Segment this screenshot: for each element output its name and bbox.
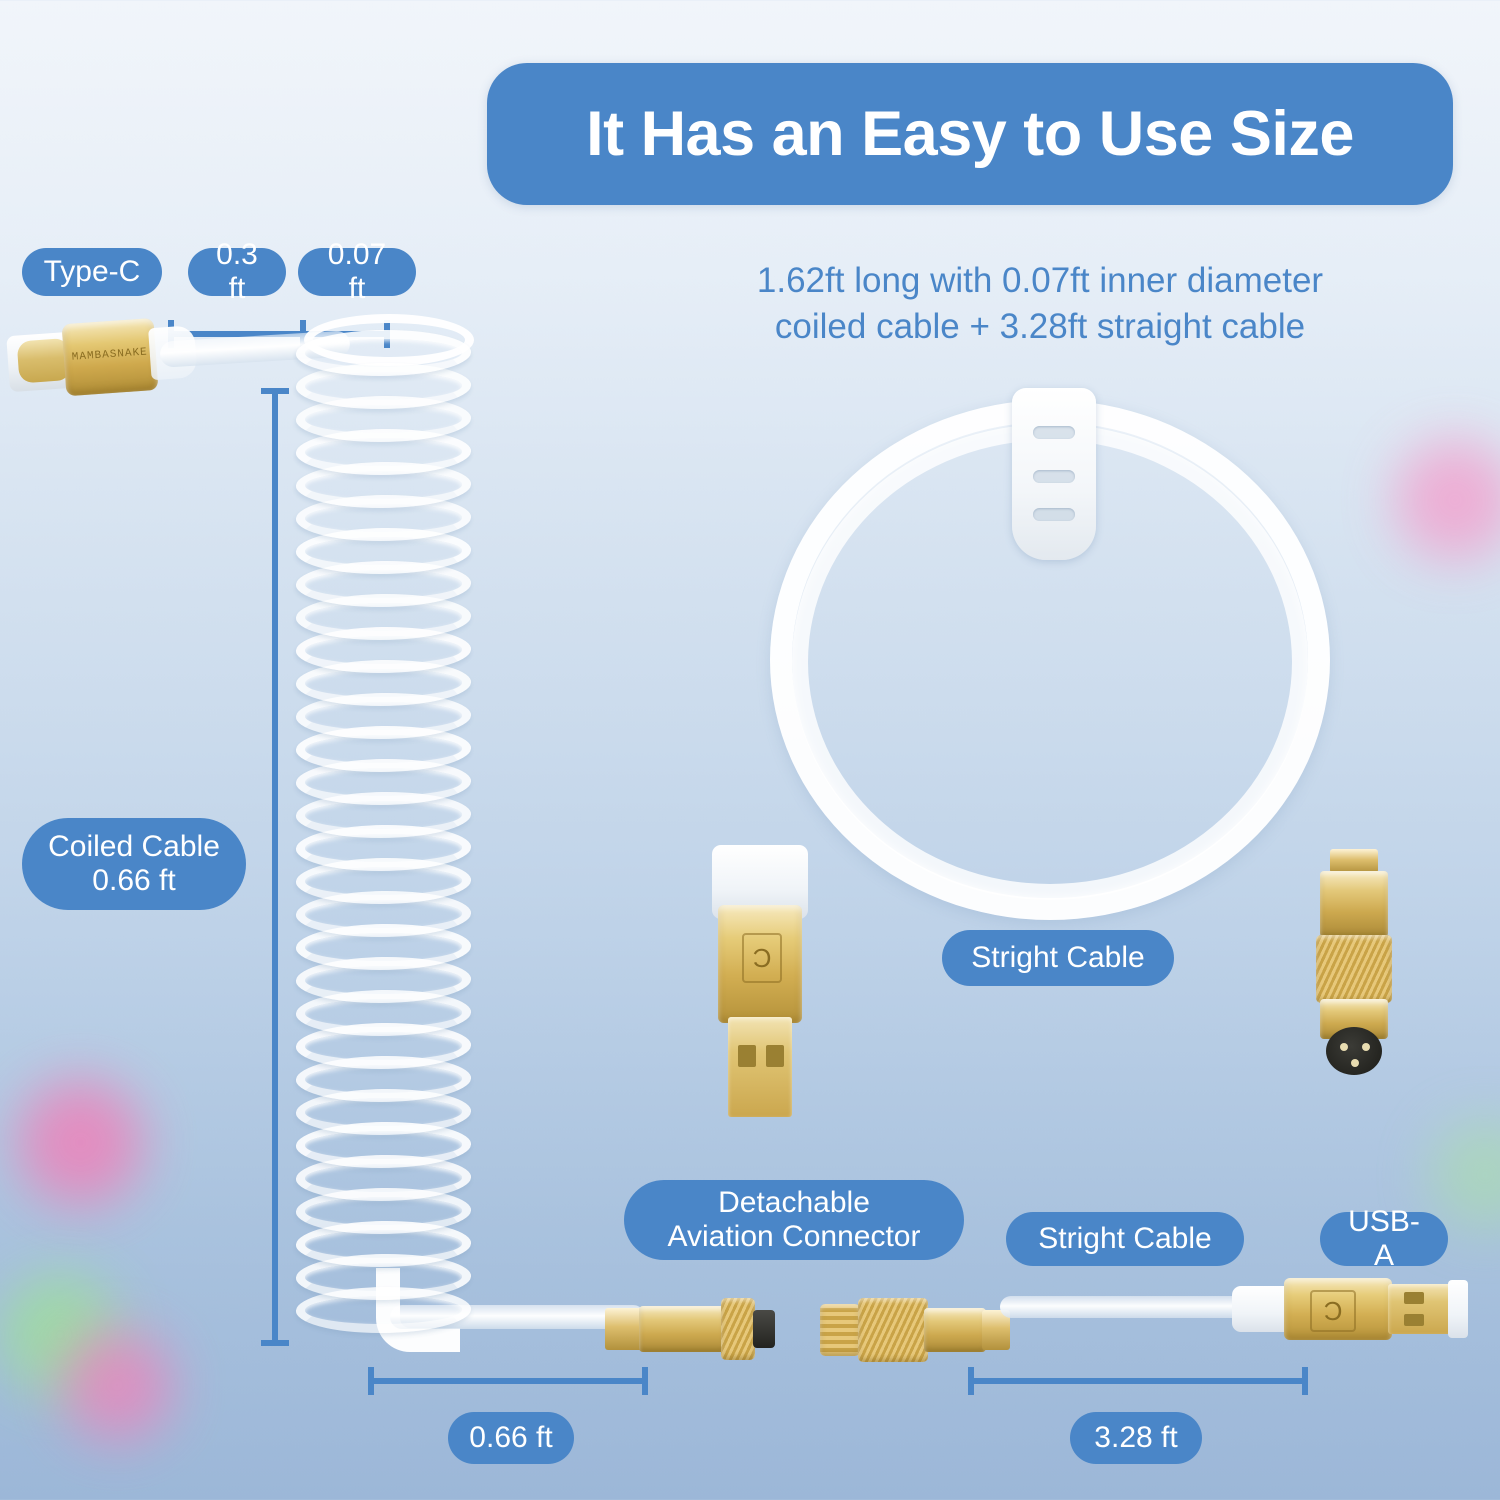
aviation-female-knurl xyxy=(858,1298,928,1362)
description-line-2: coiled cable + 3.28ft straight cable xyxy=(645,304,1435,350)
aviation-female-barrel xyxy=(924,1308,986,1352)
dimension-tick-coil-top xyxy=(261,388,289,394)
label-length-0-3ft: 0.3 ft xyxy=(188,248,286,296)
usb-a-connector-bottom: Ɔ xyxy=(1232,1268,1468,1354)
usb-a-pinhole-b1 xyxy=(1404,1292,1424,1304)
brand-logo-icon-bottom: Ɔ xyxy=(1310,1290,1356,1332)
label-straight-cable-upper: Stright Cable xyxy=(942,930,1174,986)
dimension-tick-coil-bottom xyxy=(261,1340,289,1346)
page-title-banner: It Has an Easy to Use Size xyxy=(487,63,1453,205)
label-detachable-aviation-connector: Detachable Aviation Connector xyxy=(624,1180,964,1260)
description-text: 1.62ft long with 0.07ft inner diameter c… xyxy=(645,258,1435,349)
label-length-0-07ft: 0.07 ft xyxy=(298,248,416,296)
coiled-cable xyxy=(296,330,486,1340)
label-straight-cable-lower: Stright Cable xyxy=(1006,1212,1244,1266)
aviation-connector-female xyxy=(820,1280,1010,1380)
aviation-pin-3 xyxy=(1351,1059,1359,1067)
dimension-tick-066-left xyxy=(368,1367,374,1395)
pink-dot-right-top xyxy=(1395,440,1500,560)
dimension-line-straight-length xyxy=(968,1378,1308,1384)
usb-a-pinhole-2 xyxy=(766,1045,784,1067)
aviation-connector-male xyxy=(605,1280,775,1380)
aviation-male-barrel xyxy=(639,1306,725,1352)
aviation-male-knurl xyxy=(721,1298,755,1360)
usb-a-plug-middle xyxy=(728,1017,792,1117)
lower-straight-cable xyxy=(1000,1296,1250,1318)
strap-slot-3 xyxy=(1033,508,1075,521)
strap-slot-1 xyxy=(1033,426,1075,439)
aviation-connector-right xyxy=(1300,845,1410,1085)
usb-a-pinhole-b2 xyxy=(1404,1314,1424,1326)
aviation-pin-1 xyxy=(1340,1043,1348,1051)
usb-a-pinhole-1 xyxy=(738,1045,756,1067)
green-dot-right xyxy=(1430,1120,1500,1230)
aviation-knurl-right xyxy=(1316,935,1392,1003)
dimension-line-coil-height xyxy=(272,388,278,1346)
label-type-c: Type-C xyxy=(22,248,162,296)
pink-dot-left xyxy=(18,1080,143,1205)
aviation-female-thread xyxy=(820,1304,860,1356)
green-dot-left xyxy=(0,1275,120,1395)
description-line-1: 1.62ft long with 0.07ft inner diameter xyxy=(645,258,1435,304)
label-length-0-66ft: 0.66 ft xyxy=(448,1412,574,1464)
cable-tie-strap xyxy=(1012,388,1096,560)
brand-logo-icon-middle: Ɔ xyxy=(742,933,782,983)
pink-dot-left-lower xyxy=(62,1330,172,1440)
product-infographic: It Has an Easy to Use Size 1.62ft long w… xyxy=(0,0,1500,1500)
label-length-3-28ft: 3.28 ft xyxy=(1070,1412,1202,1464)
aviation-male-tip xyxy=(753,1310,775,1348)
aviation-face-right xyxy=(1326,1027,1382,1075)
label-coiled-cable: Coiled Cable 0.66 ft xyxy=(22,818,246,910)
dimension-tick-328-right xyxy=(1302,1367,1308,1395)
usb-a-connector-middle: Ɔ xyxy=(700,845,820,1125)
label-usb-a: USB-A xyxy=(1320,1212,1448,1266)
aviation-male-collar xyxy=(605,1308,643,1350)
strap-slot-2 xyxy=(1033,470,1075,483)
usb-a-endcap-bottom xyxy=(1448,1280,1468,1338)
aviation-collar-right xyxy=(1330,849,1378,873)
page-title: It Has an Easy to Use Size xyxy=(586,98,1354,170)
aviation-barrel-right xyxy=(1320,871,1388,937)
aviation-pin-2 xyxy=(1362,1043,1370,1051)
